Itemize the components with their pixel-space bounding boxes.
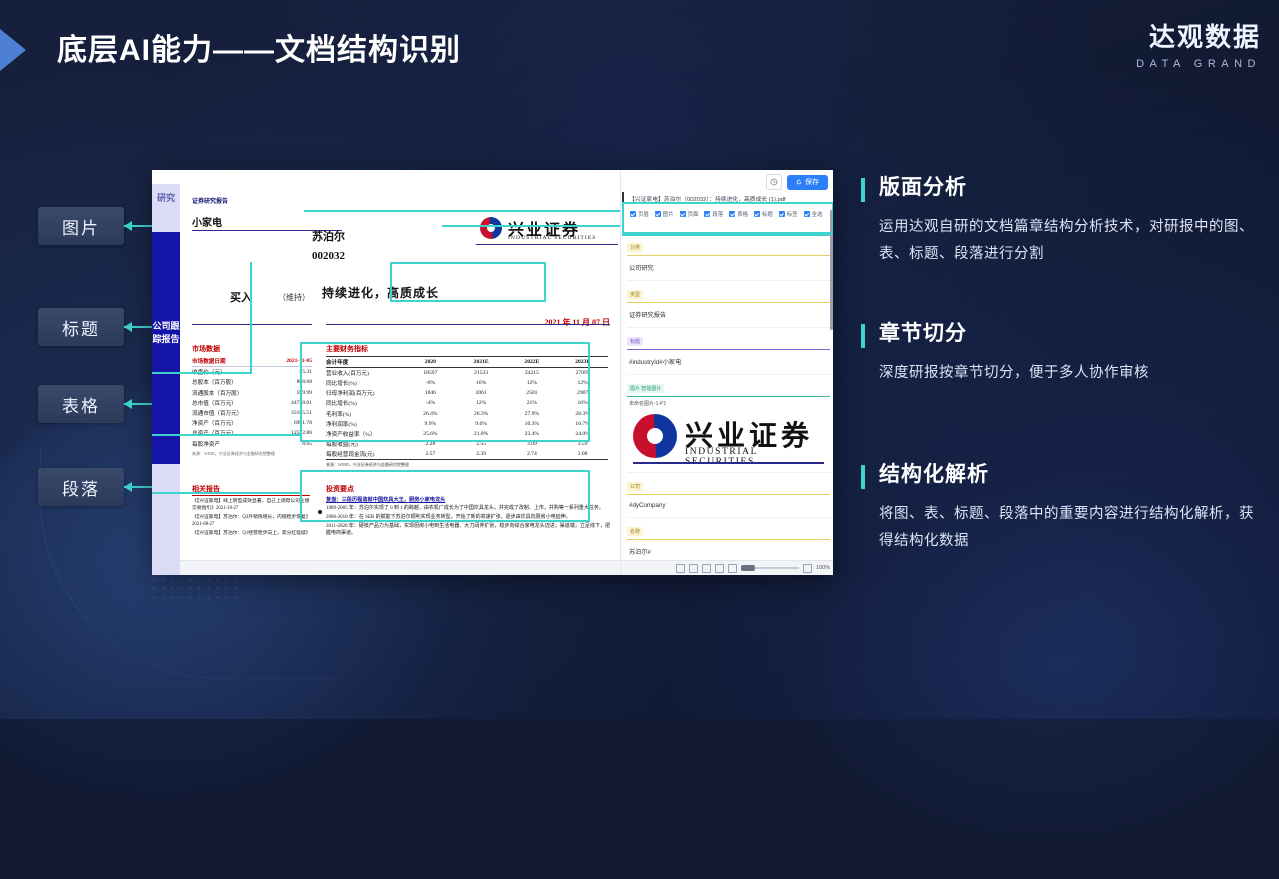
financial-row-label: 净利润率(%) — [326, 419, 405, 429]
financial-cell: 21533 — [456, 368, 507, 379]
financial-cell: 2.74 — [507, 449, 558, 460]
feature-accent-2 — [861, 324, 865, 348]
tree-node-value: #industryId#小家电 — [627, 350, 830, 375]
doc-rating-previous: （维持） — [278, 292, 310, 303]
panel-file-name: 【兴证家电】苏泊尔（002032）：持续进化，高质成长 (1).pdf — [629, 194, 828, 203]
financial-cell: 9.9% — [405, 419, 456, 429]
investment-paragraph: 2006-2010 年：在 SEB 的赋能下苏泊尔顺利实现业务转型，开始了新的高… — [326, 514, 610, 521]
financial-row: 每股收益(元)2.282.553.093.59 — [326, 439, 608, 449]
filter-checkbox-表格[interactable]: 表格 — [729, 210, 748, 218]
callout-tag-image: 图片 — [38, 207, 124, 245]
filter-checkbox-页面[interactable]: 页面 — [680, 210, 699, 218]
text-icon[interactable] — [689, 564, 698, 573]
viewer-toolbar: 100% — [621, 560, 833, 575]
financial-cell: 12% — [507, 378, 558, 388]
filter-label: 页眉 — [638, 210, 649, 218]
page-title: 底层AI能力——文档结构识别 — [57, 29, 461, 73]
financial-row-label: 每股经营现金流(元) — [326, 449, 405, 460]
related-report-item: 《【兴证家电】苏泊尔：Q1经营稳步向上，高分红延续》 — [192, 531, 310, 538]
doc-company-name: 苏泊尔 — [312, 228, 345, 244]
financial-cell: 2.55 — [456, 439, 507, 449]
financial-head: 会计年度20202021E2022E2023E — [326, 357, 608, 368]
tree-node-value: 证券研究报告 — [627, 303, 830, 328]
financial-cell: 28.3% — [557, 408, 608, 418]
doc-rating: 买入 — [230, 289, 252, 305]
financial-cell: 27095 — [557, 368, 608, 379]
doc-category: 小家电 — [192, 214, 222, 229]
financial-grid: 会计年度20202021E2022E2023E 营业收入(百万元)1859721… — [326, 356, 608, 460]
financial-cell: 24215 — [507, 368, 558, 379]
market-data-value: 8.65 — [271, 439, 312, 449]
financial-cell: 1846 — [405, 388, 456, 398]
financial-row: 营业收入(百万元)18597215332421527095 — [326, 368, 608, 379]
financial-cell: 2.57 — [405, 449, 456, 460]
filter-checkbox-全选[interactable]: 全选 — [804, 210, 823, 218]
feature-desc-1: 运用达观自研的文档篇章结构分析技术，对研报中的图、表、标题、段落进行分割 — [879, 214, 1261, 268]
callout-arrowhead-1 — [124, 221, 132, 231]
structure-panel: 保存 【兴证家电】苏泊尔（002032）：持续进化，高质成长 (1).pdf 页… — [620, 170, 833, 575]
tree-node[interactable]: 类型证券研究报告 — [627, 283, 830, 328]
financial-cell: 27.9% — [507, 408, 558, 418]
tree-node-value: #dyCompany — [627, 495, 830, 518]
financial-table-title: 主要财务指标 — [326, 344, 608, 354]
market-data-row: 净资产（百万元）6991.78 — [192, 418, 312, 428]
financial-cell: 16% — [456, 378, 507, 388]
market-data-row: 收盘价（元）55.31 — [192, 367, 312, 378]
financial-cell: 21.8% — [456, 429, 507, 439]
doc-kicker: 证券研究报告 — [192, 196, 228, 205]
filter-checkbox-图片[interactable]: 图片 — [655, 210, 674, 218]
tree-node[interactable]: 标题#industryId#小家电 — [627, 330, 830, 375]
panel-toolbar: 保存 — [766, 174, 828, 190]
doc-slogan: 持续进化，高质成长 — [322, 284, 439, 301]
financial-cell: 26.4% — [405, 408, 456, 418]
financial-cell: 12% — [557, 378, 608, 388]
financial-column-header: 2022E — [507, 357, 558, 368]
market-data-label: 总股本（百万股） — [192, 377, 271, 387]
filter-checkbox-页眉[interactable]: 页眉 — [630, 210, 649, 218]
tree-node-tag: 标题 — [627, 337, 643, 346]
financial-cell: 3.08 — [557, 449, 608, 460]
industrial-securities-mark-icon — [480, 217, 502, 239]
feature-accent-1 — [861, 178, 865, 202]
tree-node-tag: 图片 智能图片 — [627, 384, 664, 393]
tree-node-image: 未命名图片-1-P1兴业证券INDUSTRIAL SECURITIES — [627, 397, 830, 473]
refresh-icon — [796, 179, 802, 185]
doc-brand-en: INDUSTRIAL SECURITIES — [508, 235, 596, 241]
financial-row: 同比增长(%)-6%16%12%12% — [326, 378, 608, 388]
fullscreen-icon[interactable] — [803, 564, 812, 573]
extracted-logo-rule — [633, 462, 824, 464]
financial-header-row: 会计年度20202021E2022E2023E — [326, 357, 608, 368]
market-data-value: 55.31 — [271, 367, 312, 378]
extracted-logo-image: 兴业证券INDUSTRIAL SECURITIES — [629, 410, 828, 466]
market-data-label: 净资产（百万元） — [192, 418, 271, 428]
financial-row: 同比增长(%)-4%12%21%16% — [326, 398, 608, 408]
financial-row-label: 同比增长(%) — [326, 398, 405, 408]
financial-row-label: 归母净利润(百万元) — [326, 388, 405, 398]
tree-node-image-name: 未命名图片-1-P1 — [629, 400, 828, 407]
market-data-row: 流通市值（百万元）33185.51 — [192, 408, 312, 418]
market-data-row: 总市值（百万元）44728.01 — [192, 398, 312, 408]
checkbox-checked-icon — [804, 211, 810, 217]
market-data-value: 599.99 — [271, 388, 312, 398]
feature-desc-2: 深度研报按章节切分，便于多人协作审核 — [879, 360, 1261, 387]
financial-cell: 2061 — [456, 388, 507, 398]
market-data-label: 市场数据日期 — [192, 356, 271, 367]
investment-points-body: 1989-2005 年：苏泊尔实现了 0 到 1 的跨越，由农机厂成长为了中国炊… — [326, 505, 610, 537]
financial-column-header: 2020 — [405, 357, 456, 368]
doc-rule-2 — [192, 324, 312, 325]
market-data-row: 市场数据日期2021-11-05 — [192, 356, 312, 367]
financial-row-label: 营业收入(百万元) — [326, 368, 405, 379]
feature-title-1: 版面分析 — [879, 174, 1261, 202]
financial-cell: 10.3% — [507, 419, 558, 429]
filter-label: 标签 — [787, 210, 798, 218]
investment-paragraph: 1989-2005 年：苏泊尔实现了 0 到 1 的跨越，由农机厂成长为了中国炊… — [326, 505, 610, 512]
doc-date: 2021 年 11 月 07 日 — [544, 317, 610, 328]
financial-cell: -6% — [405, 378, 456, 388]
callout-tag-table: 表格 — [38, 385, 124, 423]
market-data-source: 来源：WIND，兴业证券经济与金融研究院整理 — [192, 451, 312, 457]
checkbox-checked-icon — [779, 211, 785, 217]
financial-table: 主要财务指标 会计年度20202021E2022E2023E 营业收入(百万元)… — [326, 344, 608, 468]
financial-cell: 3.09 — [507, 439, 558, 449]
financial-cell: 2.39 — [456, 449, 507, 460]
market-data-label: 收盘价（元） — [192, 367, 271, 378]
checkbox-checked-icon — [754, 211, 760, 217]
structure-tree: 分类公司研究类型证券研究报告标题#industryId#小家电图片 智能图片未命… — [627, 236, 830, 559]
related-report-item: 《【兴证家电】苏泊尔：Q3外销快增长，内销稳步恢复》2021-08-27 — [192, 515, 310, 528]
related-reports-list: 《【兴证家电】线上转型成效显著，自己上调母公司业绩交易指引》2021-10-27… — [192, 499, 310, 538]
financial-row-label: 每股收益(元) — [326, 439, 405, 449]
callout-arrowhead-3 — [124, 399, 132, 409]
history-glyph — [770, 178, 778, 186]
market-data-value: 808.68 — [271, 377, 312, 387]
tree-node-tag: 类型 — [627, 290, 643, 299]
report-spine-mid-label: 公司跟踪报告 — [152, 320, 180, 346]
doc-rule-3 — [326, 324, 610, 325]
zoom-level-label: 100% — [816, 565, 830, 571]
market-data-grid: 市场数据日期2021-11-05收盘价（元）55.31总股本（百万股）808.6… — [192, 356, 312, 449]
slide-header: 底层AI能力——文档结构识别 达观数据 DATA GRAND — [0, 0, 1279, 104]
market-data-label: 总资产（百万元） — [192, 428, 271, 438]
history-icon[interactable] — [766, 174, 782, 190]
market-data-label: 流通股本（百万股） — [192, 388, 271, 398]
filter-label: 页面 — [688, 210, 699, 218]
filter-label: 标题 — [762, 210, 773, 218]
filter-label: 全选 — [812, 210, 823, 218]
market-data-table: 市场数据 市场数据日期2021-11-05收盘价（元）55.31总股本（百万股）… — [192, 344, 312, 457]
market-data-row: 总股本（百万股）808.68 — [192, 377, 312, 387]
brand-logo-cn: 达观数据 — [1136, 22, 1261, 52]
feature-block-2: 章节切分 深度研报按章节切分，便于多人协作审核 — [861, 320, 1261, 387]
filter-label: 段落 — [712, 210, 723, 218]
financial-cell: 12% — [456, 398, 507, 408]
feature-title-2: 章节切分 — [879, 320, 1261, 348]
filter-checkbox-段落[interactable]: 段落 — [704, 210, 723, 218]
market-data-label: 每股净资产 — [192, 439, 271, 449]
callout-arrowhead-4 — [124, 482, 132, 492]
market-data-body: 市场数据日期2021-11-05收盘价（元）55.31总股本（百万股）808.6… — [192, 356, 312, 449]
financial-column-header: 2023E — [557, 357, 608, 368]
filter-label: 表格 — [737, 210, 748, 218]
doc-brand-logo: 兴业证券 INDUSTRIAL SECURITIES — [480, 216, 620, 246]
investment-points-title: 投资要点 — [326, 484, 610, 494]
save-button[interactable]: 保存 — [787, 175, 828, 190]
market-data-value: 44728.01 — [271, 398, 312, 408]
market-data-value: 12552.86 — [271, 428, 312, 438]
financial-cell: 9.6% — [456, 419, 507, 429]
tree-node-tag: 名称 — [627, 527, 643, 536]
checkbox-checked-icon — [655, 211, 661, 217]
save-button-label: 保存 — [805, 177, 819, 187]
financial-column-header: 会计年度 — [326, 357, 405, 368]
callout-tag-title: 标题 — [38, 308, 124, 346]
financial-cell: -4% — [405, 398, 456, 408]
financial-cell: 2.28 — [405, 439, 456, 449]
financial-cell: 3.59 — [557, 439, 608, 449]
investment-points: 投资要点 复盘：三段历程造就中国炊具大王，厨房小家电龙头 1989-2005 年… — [326, 484, 610, 539]
report-spine-top-label: 研究 — [152, 192, 180, 205]
market-data-value: 6991.78 — [271, 418, 312, 428]
filter-checkbox-标题[interactable]: 标题 — [754, 210, 773, 218]
product-screenshot: 研究 公司跟踪报告 证券研究报告 小家电 兴业证券 INDUSTRIAL SEC… — [152, 170, 833, 575]
market-data-row: 流通股本（百万股）599.99 — [192, 388, 312, 398]
brand-logo: 达观数据 DATA GRAND — [1136, 22, 1261, 73]
financial-row-label: 净资产收益率（%） — [326, 429, 405, 439]
investment-paragraph: 2011-2020 年：硬核产品力为基础，实现厨房小电到生活电器、大刀阔斧扩张，… — [326, 523, 610, 537]
financial-row: 净资产收益率（%）25.6%21.8%23.4%24.0% — [326, 429, 608, 439]
market-data-value: 33185.51 — [271, 408, 312, 418]
financial-column-header: 2021E — [456, 357, 507, 368]
financial-cell: 23.4% — [507, 429, 558, 439]
fit-icon[interactable] — [728, 564, 737, 573]
financial-body: 营业收入(百万元)18597215332421527095同比增长(%)-6%1… — [326, 368, 608, 460]
market-data-title: 市场数据 — [192, 344, 312, 354]
financial-row: 每股经营现金流(元)2.572.392.743.08 — [326, 449, 608, 460]
tree-node[interactable]: 公司#dyCompany — [627, 475, 830, 518]
financial-cell: 26.3% — [456, 408, 507, 418]
feature-title-3: 结构化解析 — [879, 461, 1261, 489]
pointer-icon[interactable] — [676, 564, 685, 573]
financial-row-label: 同比增长(%) — [326, 378, 405, 388]
financial-row-label: 毛利率(%) — [326, 408, 405, 418]
related-reports-title: 相关报告 — [192, 484, 310, 496]
market-data-label: 总市值（百万元） — [192, 398, 271, 408]
report-spine-highlight — [152, 232, 180, 464]
zoom-slider[interactable] — [741, 567, 799, 569]
feature-desc-3: 将图、表、标题、段落中的重要内容进行结构化解析，获得结构化数据 — [879, 501, 1261, 555]
financial-cell: 2501 — [507, 388, 558, 398]
financial-cell: 16% — [557, 398, 608, 408]
panel-accent-bar — [622, 192, 624, 202]
financial-cell: 24.0% — [557, 429, 608, 439]
tree-node-value: 苏泊尔# — [627, 540, 830, 559]
zoom-in-icon[interactable] — [715, 564, 724, 573]
related-reports: 相关报告 《【兴证家电】线上转型成效显著，自己上调母公司业绩交易指引》2021-… — [192, 484, 310, 538]
tree-node[interactable]: 图片 智能图片未命名图片-1-P1兴业证券INDUSTRIAL SECURITI… — [627, 377, 830, 473]
checkbox-checked-icon — [729, 211, 735, 217]
doc-company-code: 002032 — [312, 250, 345, 262]
checkbox-checked-icon — [680, 211, 686, 217]
arrow-marker-icon — [0, 29, 26, 71]
pdf-page-bottom-bar — [180, 560, 620, 575]
financial-cell: 25.6% — [405, 429, 456, 439]
financial-row: 归母净利润(百万元)1846206125012907 — [326, 388, 608, 398]
tree-node-tag: 公司 — [627, 482, 643, 491]
callout-arrowhead-2 — [124, 322, 132, 332]
tree-node-value: 公司研究 — [627, 256, 830, 281]
market-data-row: 每股净资产8.65 — [192, 439, 312, 449]
financial-row: 毛利率(%)26.4%26.3%27.9%28.3% — [326, 408, 608, 418]
market-data-row: 总资产（百万元）12552.86 — [192, 428, 312, 438]
tree-node[interactable]: 名称苏泊尔# — [627, 520, 830, 559]
tree-node-tag: 分类 — [627, 243, 643, 252]
financial-source: 来源：WIND，兴业证券经济与金融研究院整理 — [326, 462, 608, 468]
market-data-value: 2021-11-05 — [271, 356, 312, 367]
bullet-icon — [318, 510, 322, 514]
pdf-page: 证券研究报告 小家电 兴业证券 INDUSTRIAL SECURITIES 苏泊… — [180, 184, 620, 575]
checkbox-checked-icon — [704, 211, 710, 217]
extracted-logo-en: INDUSTRIAL SECURITIES — [685, 447, 828, 467]
checkbox-checked-icon — [630, 211, 636, 217]
doc-rule-brand — [476, 244, 618, 245]
related-report-item: 《【兴证家电】线上转型成效显著，自己上调母公司业绩交易指引》2021-10-27 — [192, 499, 310, 512]
financial-cell: 18597 — [405, 368, 456, 379]
financial-row: 净利润率(%)9.9%9.6%10.3%10.7% — [326, 419, 608, 429]
market-data-label: 流通市值（百万元） — [192, 408, 271, 418]
brand-logo-en: DATA GRAND — [1136, 55, 1261, 73]
structure-filter-bar: 页眉图片页面段落表格标题标签全选 — [627, 206, 829, 222]
filter-checkbox-标签[interactable]: 标签 — [779, 210, 798, 218]
callout-tag-paragraph: 段落 — [38, 468, 124, 506]
financial-cell: 2907 — [557, 388, 608, 398]
financial-cell: 21% — [507, 398, 558, 408]
industrial-securities-mark-icon — [633, 414, 677, 458]
financial-cell: 10.7% — [557, 419, 608, 429]
zoom-out-icon[interactable] — [702, 564, 711, 573]
filter-label: 图片 — [663, 210, 674, 218]
tree-node[interactable]: 分类公司研究 — [627, 236, 830, 281]
feature-block-3: 结构化解析 将图、表、标题、段落中的重要内容进行结构化解析，获得结构化数据 — [861, 461, 1261, 555]
feature-accent-3 — [861, 465, 865, 489]
feature-block-1: 版面分析 运用达观自研的文档篇章结构分析技术，对研报中的图、表、标题、段落进行分… — [861, 174, 1261, 268]
investment-points-lead: 复盘：三段历程造就中国炊具大王，厨房小家电龙头 — [326, 496, 610, 503]
panel-scrollbar[interactable] — [830, 210, 833, 330]
